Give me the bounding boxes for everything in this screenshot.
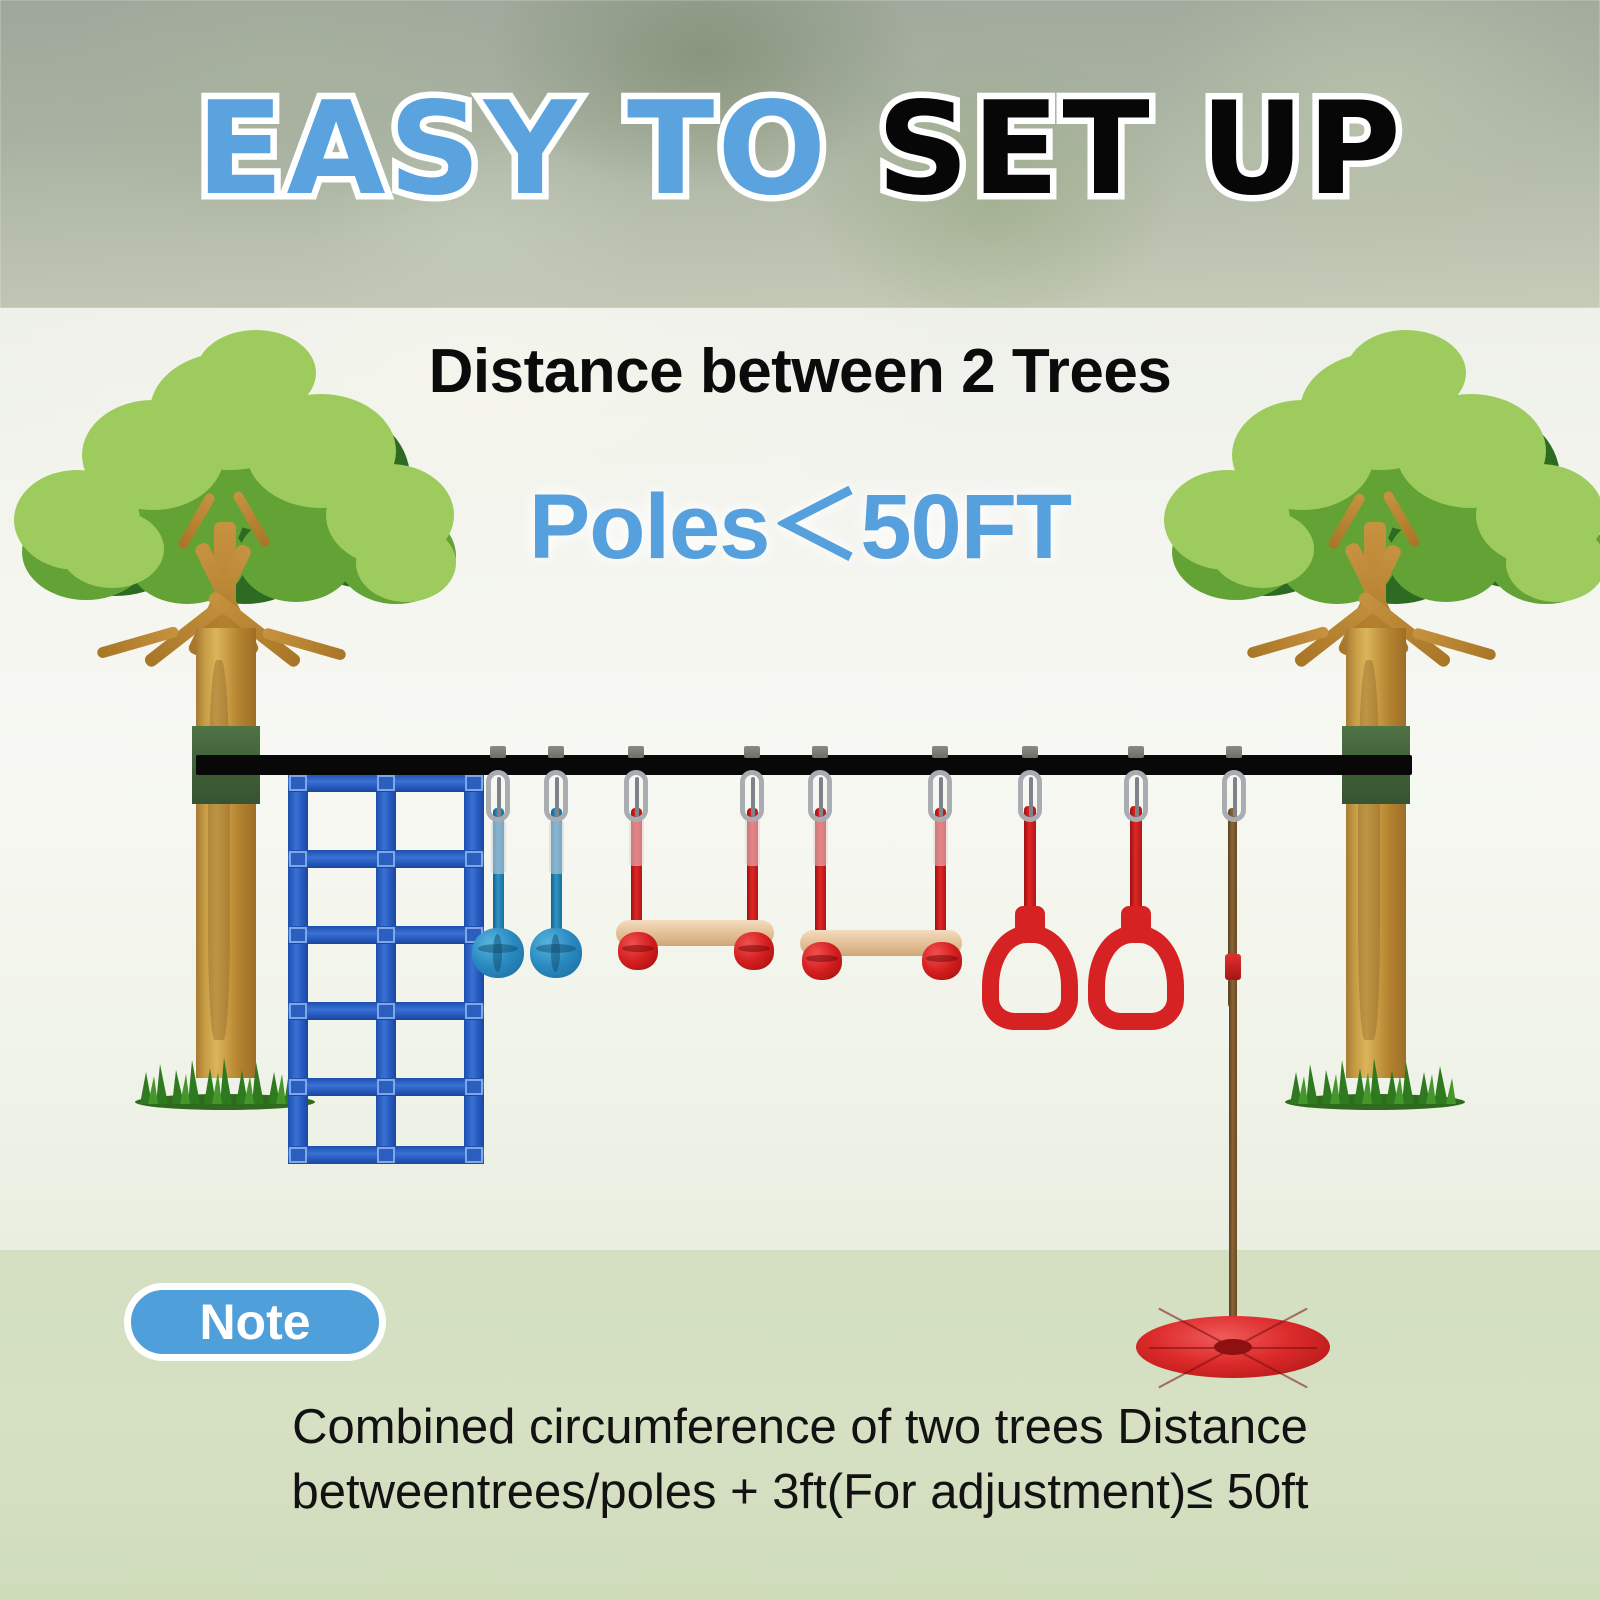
carabiner-icon — [808, 770, 832, 822]
page-title-part-black: SET UP — [877, 75, 1404, 224]
gym-ring — [1088, 926, 1184, 1030]
carabiner-icon — [1018, 770, 1042, 822]
carabiner-icon — [486, 770, 510, 822]
note-text: Combined circumference of two trees Dist… — [90, 1395, 1510, 1525]
carabiner-icon — [1124, 770, 1148, 822]
monkey-fist-knot — [472, 928, 524, 978]
note-text-line2: betweentrees/poles + 3ft(For adjustment)… — [90, 1460, 1510, 1525]
carabiner-icon — [1222, 770, 1246, 822]
carabiner-icon — [740, 770, 764, 822]
setup-illustration — [0, 308, 1600, 1250]
gym-ring — [982, 926, 1078, 1030]
monkey-fist-knot — [530, 928, 582, 978]
grass-tuft-right — [1280, 1054, 1470, 1110]
rope-adjuster — [1225, 954, 1241, 980]
note-badge-label: Note — [199, 1293, 310, 1351]
page-title: EASY TO SET UP — [0, 86, 1600, 214]
carabiner-icon — [928, 770, 952, 822]
carabiner-icon — [544, 770, 568, 822]
carabiner-icon — [624, 770, 648, 822]
page-title-part-blue: EASY TO — [196, 75, 829, 224]
infographic-page: EASY TO SET UP Distance between 2 Trees … — [0, 0, 1600, 1600]
note-text-line1: Combined circumference of two trees Dist… — [90, 1395, 1510, 1460]
note-badge: Note — [124, 1283, 386, 1361]
